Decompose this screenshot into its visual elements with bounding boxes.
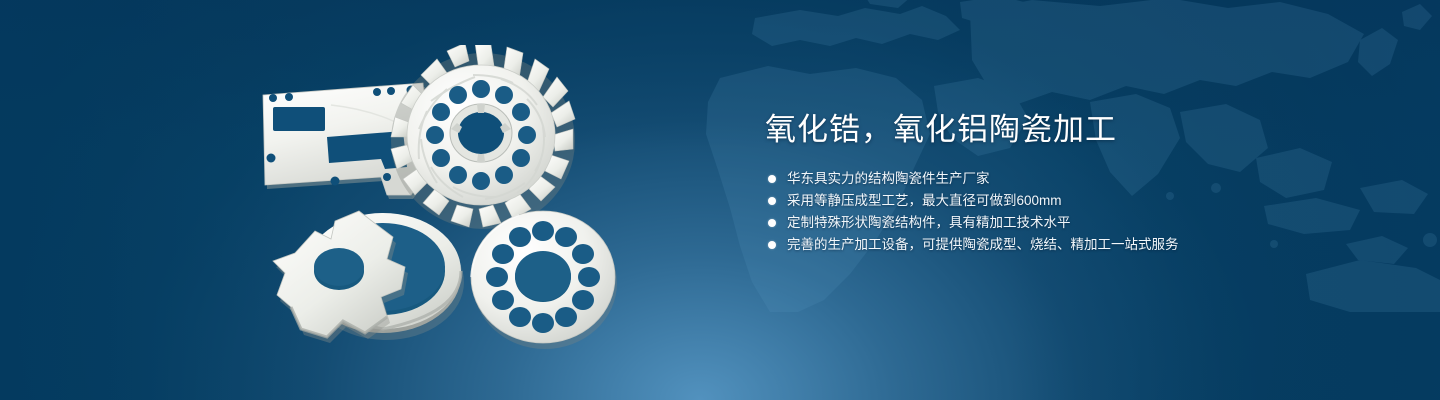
ceramic-impeller-disc: [391, 45, 575, 229]
page-title: 氧化锆，氧化铝陶瓷加工: [765, 108, 1285, 152]
list-item: 完善的生产加工设备，可提供陶瓷成型、烧结、精加工一站式服务: [765, 234, 1285, 256]
list-item: 定制特殊形状陶瓷结构件，具有精加工技术水平: [765, 212, 1285, 234]
list-item: 华东具实力的结构陶瓷件生产厂家: [765, 168, 1285, 190]
list-item-label: 定制特殊形状陶瓷结构件，具有精加工技术水平: [787, 212, 1071, 234]
bullet-dot-icon: [768, 197, 776, 205]
list-item-label: 采用等静压成型工艺，最大直径可做到600mm: [787, 190, 1062, 212]
hero-banner: 氧化锆，氧化铝陶瓷加工 华东具实力的结构陶瓷件生产厂家 采用等静压成型工艺，最大…: [0, 0, 1440, 400]
bullet-dot-icon: [768, 241, 776, 249]
feature-list: 华东具实力的结构陶瓷件生产厂家 采用等静压成型工艺，最大直径可做到600mm 定…: [765, 168, 1285, 256]
banner-copy: 氧化锆，氧化铝陶瓷加工 华东具实力的结构陶瓷件生产厂家 采用等静压成型工艺，最大…: [765, 108, 1285, 256]
ceramic-products-image: [235, 45, 705, 385]
list-item: 采用等静压成型工艺，最大直径可做到600mm: [765, 190, 1285, 212]
ceramic-perforated-annular-disc: [471, 211, 617, 349]
bullet-dot-icon: [768, 219, 776, 227]
list-item-label: 完善的生产加工设备，可提供陶瓷成型、烧结、精加工一站式服务: [787, 234, 1179, 256]
bullet-dot-icon: [768, 175, 776, 183]
list-item-label: 华东具实力的结构陶瓷件生产厂家: [787, 168, 990, 190]
